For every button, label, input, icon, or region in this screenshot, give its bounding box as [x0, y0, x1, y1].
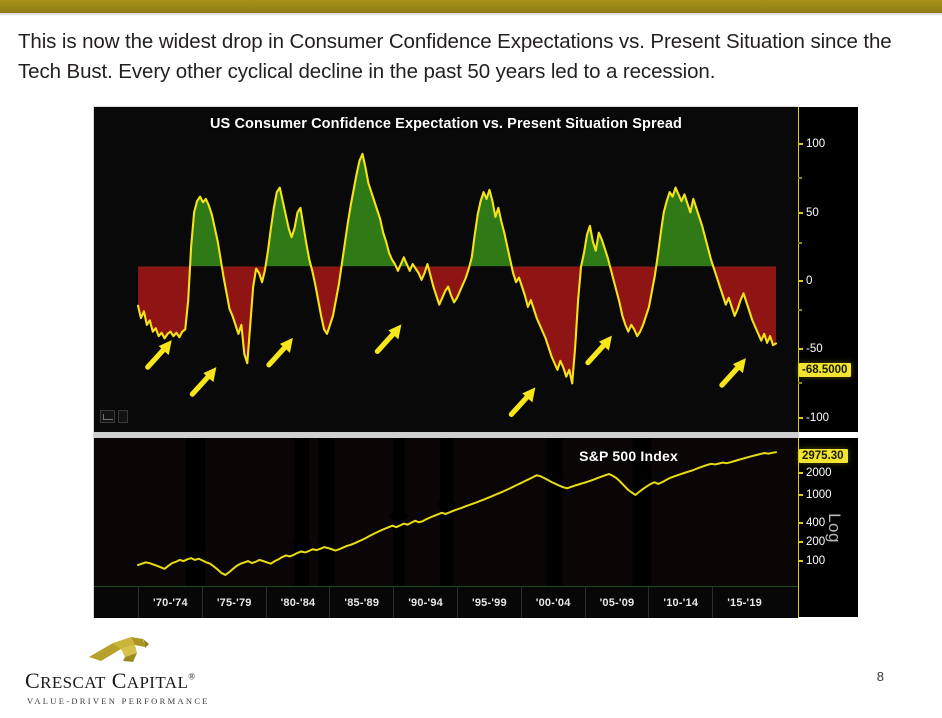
- x-axis-tick: '10-'14: [648, 587, 712, 618]
- spread-y-tick-minor: [798, 242, 802, 244]
- spx-scale-label: Log: [824, 513, 844, 543]
- recession-band: [294, 438, 309, 586]
- x-axis-pad-right: [776, 587, 798, 618]
- x-axis-tick: '80-'84: [266, 587, 330, 618]
- spread-chart-svg: [94, 107, 798, 432]
- accent-bar-shadow: [0, 13, 942, 16]
- spx-chart-title: S&P 500 Index: [579, 448, 678, 464]
- trough-arrow-annotation: [722, 358, 746, 385]
- x-axis-tick: '15-'19: [712, 587, 776, 618]
- page-number: 8: [877, 669, 884, 684]
- trough-arrow-annotation: [192, 367, 216, 394]
- spread-chart-title: US Consumer Confidence Expectation vs. P…: [94, 116, 798, 132]
- x-axis-tick: '70-'74: [138, 587, 202, 618]
- spx-chart-svg: [94, 438, 798, 586]
- recession-band: [186, 438, 205, 586]
- trough-arrow-annotation: [148, 340, 172, 367]
- spx-y-axis-line: [798, 438, 799, 617]
- x-axis: '70-'74 '75-'79 '80-'84 '85-'89 '90-'94 …: [94, 586, 798, 618]
- spread-y-tick-minor: [798, 309, 802, 311]
- spread-current-value-flag: -68.5000: [799, 363, 851, 377]
- spread-y-tick-minor: [798, 382, 802, 384]
- x-axis-pad-left: [94, 587, 138, 618]
- spx-current-value-flag: 2975.30: [799, 449, 848, 463]
- x-axis-tick: '85-'89: [329, 587, 393, 618]
- spread-y-axis: 100 50 0 -50 -68.5000 -100: [798, 107, 858, 432]
- spread-y-tick-minor: [798, 177, 802, 179]
- x-axis-tick: '05-'09: [585, 587, 649, 618]
- trough-arrow-annotation: [588, 336, 612, 363]
- chart-settings-icon[interactable]: [100, 410, 128, 423]
- recession-band: [546, 438, 562, 586]
- trough-arrow-annotation: [377, 324, 401, 351]
- x-axis-tick: '90-'94: [393, 587, 457, 618]
- spx-line: [138, 452, 776, 575]
- spx-y-axis: 2975.30 2000 1000 400 200 100 Log: [798, 438, 858, 617]
- page-title: This is now the widest drop in Consumer …: [18, 27, 918, 87]
- brand-name: CRESCAT CAPITAL®: [25, 668, 196, 694]
- chart-settings-extra-box: [118, 410, 128, 423]
- recession-band: [318, 438, 335, 586]
- crescat-horse-logo-icon: [87, 635, 151, 665]
- trough-arrow-annotation: [269, 338, 293, 365]
- spread-chart-panel[interactable]: US Consumer Confidence Expectation vs. P…: [94, 107, 798, 432]
- spx-chart-panel[interactable]: S&P 500 Index: [94, 438, 798, 586]
- brand-tagline: VALUE-DRIVEN PERFORMANCE: [27, 696, 210, 706]
- accent-bar-top: [0, 0, 942, 13]
- trough-arrow-annotation: [511, 387, 535, 414]
- x-axis-tick: '75-'79: [202, 587, 266, 618]
- chart-settings-glyph-box: [100, 410, 115, 423]
- x-axis-tick: '95-'99: [457, 587, 521, 618]
- chart-container: US Consumer Confidence Expectation vs. P…: [94, 107, 798, 617]
- recession-marker: [389, 506, 409, 524]
- x-axis-tick: '00-'04: [521, 587, 585, 618]
